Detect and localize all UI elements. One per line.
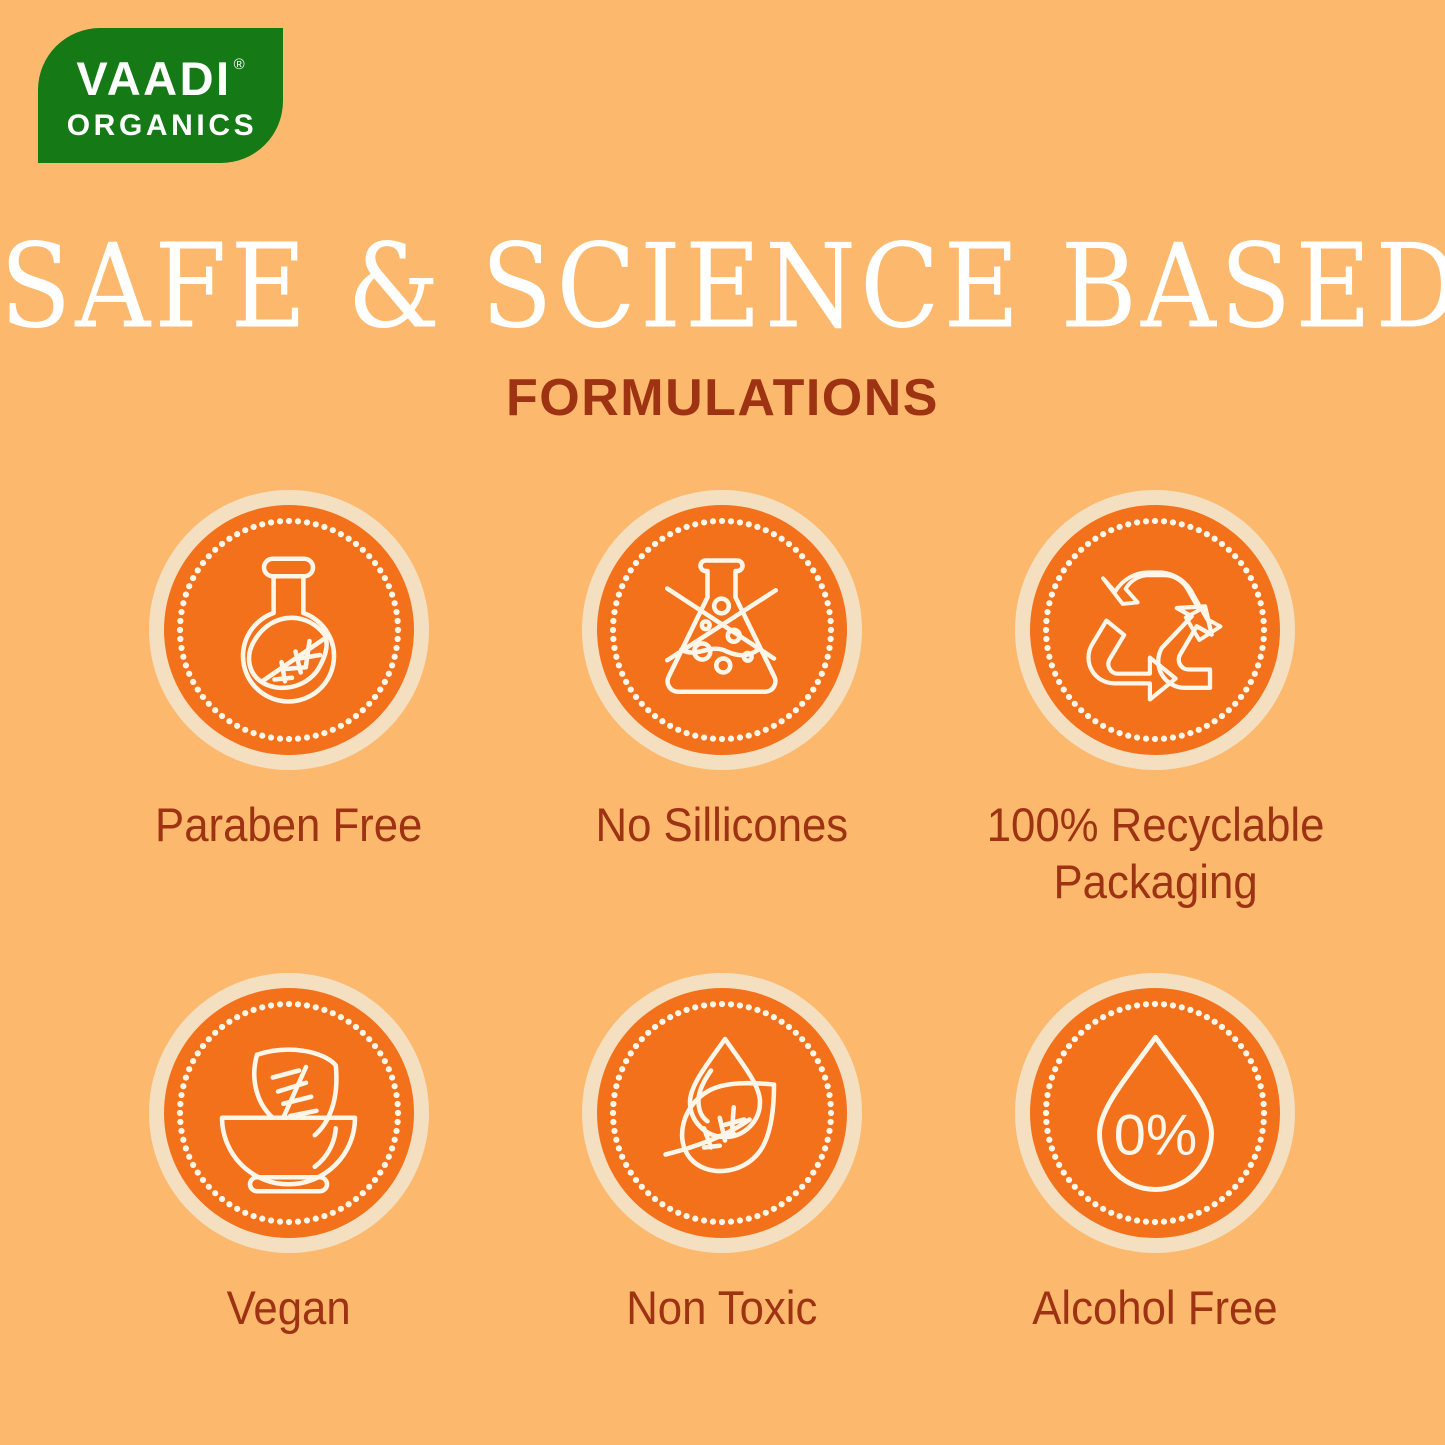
bowl-leaf-icon: [201, 1025, 376, 1200]
feature-item: 0% Alcohol Free: [939, 973, 1372, 1336]
feature-item: No Sillicones: [505, 490, 938, 911]
page-title: SAFE & SCIENCE BASED: [0, 228, 1445, 344]
badge-disc: 0%: [1030, 988, 1280, 1238]
brand-subtitle: ORGANICS: [67, 111, 257, 141]
badge-disc: [1030, 505, 1280, 755]
droplet-leaf-icon: [634, 1025, 809, 1200]
badge-disc: [164, 505, 414, 755]
badge-outer-ring: [149, 490, 429, 770]
badge-outer-ring: [1015, 490, 1295, 770]
badge-disc: [597, 505, 847, 755]
brand-name: VAADI: [76, 55, 231, 102]
feature-label: Vegan: [227, 1279, 351, 1336]
feature-item: Paraben Free: [72, 490, 505, 911]
feature-label: 100% Recyclable Packaging: [986, 796, 1324, 911]
badge-outer-ring: 0%: [1015, 973, 1295, 1253]
badge-disc: [597, 988, 847, 1238]
feature-label: Non Toxic: [626, 1279, 817, 1336]
feature-label-line: Packaging: [986, 853, 1324, 910]
feature-label: Alcohol Free: [1033, 1279, 1278, 1336]
recycle-arrows-icon: [1068, 543, 1243, 718]
feature-label-line: 100% Recyclable: [986, 796, 1324, 853]
brand-logo: VAADI ® ORGANICS: [38, 28, 283, 163]
page-subtitle: FORMULATIONS: [0, 372, 1445, 424]
erlenmeyer-flask-crossed-out-icon: [634, 543, 809, 718]
brand-logo-wordmark: VAADI ®: [76, 55, 244, 102]
feature-item: Vegan: [72, 973, 505, 1336]
badge-outer-ring: [149, 973, 429, 1253]
badge-outer-ring: [582, 973, 862, 1253]
feature-label: Paraben Free: [155, 796, 422, 853]
feature-label: No Sillicones: [596, 796, 849, 853]
feature-item: 100% Recyclable Packaging: [939, 490, 1372, 911]
droplet-zero-percent-icon: 0%: [1068, 1025, 1243, 1200]
flask-leaf-icon: [201, 543, 376, 718]
badge-disc: [164, 988, 414, 1238]
feature-badge-grid: Paraben Free: [72, 490, 1372, 1336]
registered-trademark-icon: ®: [234, 57, 245, 72]
droplet-percent-text: 0%: [1114, 1104, 1197, 1168]
feature-item: Non Toxic: [505, 973, 938, 1336]
badge-outer-ring: [582, 490, 862, 770]
